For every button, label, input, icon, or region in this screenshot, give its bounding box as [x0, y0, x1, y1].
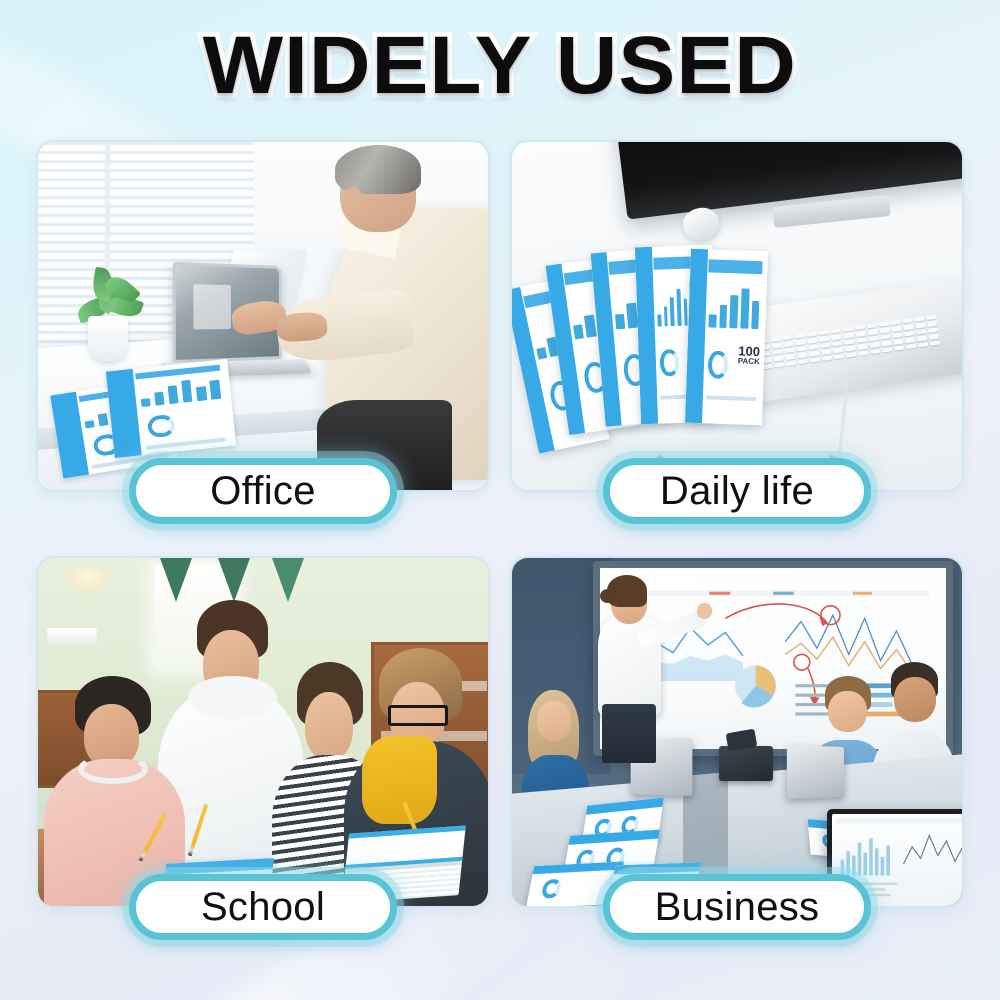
pennant-banner-icon — [272, 558, 304, 602]
office-worker-hair — [335, 145, 421, 194]
headphones-icon — [78, 754, 148, 784]
presenter-skirt — [602, 704, 656, 763]
printed-report-sheet: 100PACK — [684, 249, 767, 426]
use-case-card-business[interactable]: Business — [510, 556, 964, 908]
school-photo — [38, 558, 488, 906]
office-scene — [38, 142, 488, 490]
conference-phone — [719, 746, 773, 781]
monitor-stand — [772, 195, 891, 228]
printed-report-sheet — [106, 359, 236, 458]
chandelier-icon — [61, 568, 115, 596]
pennant-banner-icon — [218, 558, 250, 602]
office-photo — [38, 142, 488, 490]
laptop — [786, 745, 843, 799]
card-label-pill-office[interactable]: Office — [129, 458, 397, 524]
air-conditioner — [47, 628, 97, 645]
use-case-card-school[interactable]: School — [36, 556, 490, 908]
pack-badge: 100PACK — [737, 344, 760, 366]
card-label-business: Business — [655, 885, 820, 930]
headline-container: WIDELY USED — [0, 0, 1000, 132]
card-label-office: Office — [210, 469, 316, 514]
pennant-banner-icon — [160, 558, 192, 602]
business-scene — [512, 558, 962, 906]
card-label-school: School — [201, 885, 325, 930]
use-case-card-daily-life[interactable]: 100PACK 100PACK Daily life — [510, 140, 964, 492]
daily-life-photo: 100PACK 100PACK — [512, 142, 962, 490]
card-label-daily-life: Daily life — [660, 469, 814, 514]
school-scene — [38, 558, 488, 906]
use-case-card-office[interactable]: Office — [36, 140, 490, 492]
card-label-pill-school[interactable]: School — [129, 874, 397, 940]
daily-life-scene: 100PACK 100PACK — [512, 142, 962, 490]
presenter-hand — [697, 603, 713, 619]
card-label-pill-daily-life[interactable]: Daily life — [603, 458, 871, 524]
plant-pot — [88, 316, 129, 361]
page-title: WIDELY USED — [203, 19, 797, 113]
use-case-grid: Office — [36, 140, 964, 960]
office-worker-ear — [344, 187, 362, 208]
glasses-icon — [388, 705, 448, 726]
card-label-pill-business[interactable]: Business — [603, 874, 871, 940]
business-photo — [512, 558, 962, 906]
presenter-hair-bun — [600, 589, 616, 603]
